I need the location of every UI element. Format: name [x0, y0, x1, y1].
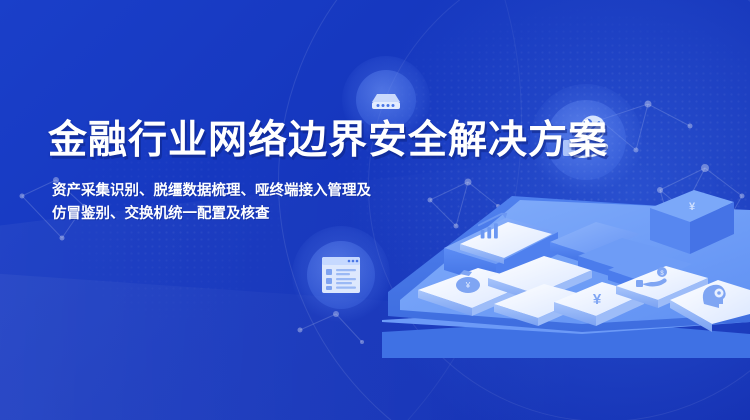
subtitle-line-1: 资产采集识别、脱缰数据梳理、哑终端接入管理及: [52, 180, 382, 203]
banner-root: ¥ ¥: [0, 0, 750, 420]
svg-text:¥: ¥: [465, 281, 471, 290]
badge-document-list: [292, 226, 390, 324]
text-block: 金融行业网络边界安全解决方案 资产采集识别、脱缰数据梳理、哑终端接入管理及 仿冒…: [48, 118, 518, 226]
network-switch-icon: [364, 78, 408, 122]
svg-text:¥: ¥: [593, 291, 602, 308]
svg-text:¥: ¥: [689, 201, 696, 213]
subtitle-line-2: 仿冒鉴别、交换机统一配置及核查: [52, 203, 382, 226]
subtitle: 资产采集识别、脱缰数据梳理、哑终端接入管理及 仿冒鉴别、交换机统一配置及核查: [52, 180, 382, 226]
page-title: 金融行业网络边界安全解决方案: [48, 118, 518, 164]
document-list-icon: [317, 252, 365, 298]
